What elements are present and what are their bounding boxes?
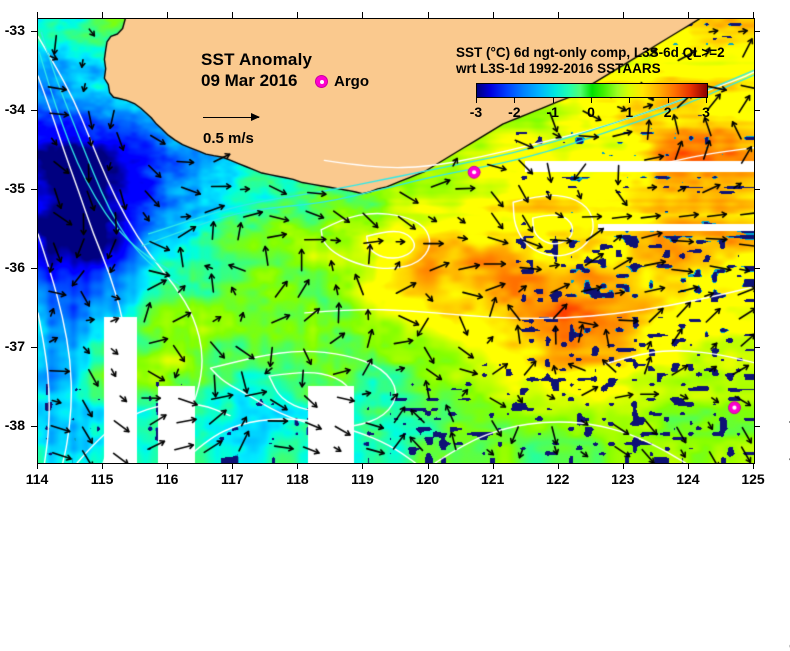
x-axis-tick-top xyxy=(167,12,168,18)
x-axis-tick-top xyxy=(232,12,233,18)
x-axis-label: 119 xyxy=(340,471,384,487)
x-axis-label: 122 xyxy=(536,471,580,487)
x-axis-tick-top xyxy=(428,12,429,18)
colorbar-tick-label: -3 xyxy=(470,104,482,120)
x-axis-tick xyxy=(167,463,168,469)
x-axis-tick xyxy=(688,463,689,469)
y-axis-tick-right xyxy=(754,347,760,348)
colorbar-tick xyxy=(553,98,554,103)
colorbar-block: SST (°C) 6d ngt-only comp, L3S-6d QL>=2 … xyxy=(456,45,746,121)
x-axis-label: 120 xyxy=(406,471,450,487)
arrow-right-icon xyxy=(203,117,259,118)
x-axis-label: 117 xyxy=(210,471,254,487)
y-axis-label: -36 xyxy=(0,259,25,275)
x-axis-tick-top xyxy=(297,12,298,18)
velocity-scale-key: 0.5 m/s xyxy=(203,111,259,147)
colorbar-tick-label: 3 xyxy=(702,104,710,120)
y-axis-tick xyxy=(31,426,37,427)
x-axis-tick-top xyxy=(37,12,38,18)
colorbar-tick xyxy=(706,98,707,103)
colorbar-tick-labels: -3-2-10123 xyxy=(476,104,706,121)
colorbar-tick xyxy=(629,98,630,103)
colorbar-tick xyxy=(668,98,669,103)
x-axis-tick xyxy=(753,463,754,469)
y-axis-label: -38 xyxy=(0,417,25,433)
y-axis-label: -35 xyxy=(0,180,25,196)
argo-float-dot-icon xyxy=(316,76,327,87)
colorbar-tick xyxy=(591,98,592,103)
x-axis-tick-top xyxy=(493,12,494,18)
x-axis-tick xyxy=(362,463,363,469)
x-axis-label: 125 xyxy=(731,471,775,487)
velocity-scale-label: 0.5 m/s xyxy=(203,130,259,147)
colorbar-tick xyxy=(476,98,477,103)
x-axis-tick-top xyxy=(688,12,689,18)
y-axis-tick xyxy=(31,189,37,190)
x-axis-tick xyxy=(102,463,103,469)
colorbar-tick-label: 1 xyxy=(625,104,633,120)
y-axis-tick-right xyxy=(754,189,760,190)
y-axis-tick xyxy=(31,110,37,111)
map-plot-area[interactable]: SST Anomaly 09 Mar 2016 Argo 0.5 m/s SST… xyxy=(37,18,755,464)
x-axis-tick-top xyxy=(623,12,624,18)
x-axis-tick xyxy=(428,463,429,469)
x-axis-tick-top xyxy=(558,12,559,18)
y-axis-tick xyxy=(31,268,37,269)
y-axis-label: -34 xyxy=(0,101,25,117)
x-axis-label: 114 xyxy=(15,471,59,487)
x-axis-label: 118 xyxy=(275,471,319,487)
x-axis-label: 123 xyxy=(601,471,645,487)
x-axis-tick xyxy=(493,463,494,469)
argo-legend-label: Argo xyxy=(334,73,369,90)
y-axis-label: -33 xyxy=(0,22,25,38)
colorbar-tick-label: 2 xyxy=(664,104,672,120)
x-axis-tick xyxy=(558,463,559,469)
colorbar-wrap: -3-2-10123 xyxy=(476,83,746,121)
x-axis-tick xyxy=(37,463,38,469)
y-axis-tick-right xyxy=(754,426,760,427)
sst-anomaly-figure: SST Anomaly 09 Mar 2016 Argo 0.5 m/s SST… xyxy=(0,0,790,492)
x-axis-label: 121 xyxy=(471,471,515,487)
colorbar-title-line2: wrt L3S-1d 1992-2016 SSTAARS xyxy=(456,61,746,77)
colorbar-tick xyxy=(514,98,515,103)
x-axis-tick-top xyxy=(753,12,754,18)
x-axis-tick-top xyxy=(102,12,103,18)
x-axis-tick xyxy=(232,463,233,469)
y-axis-tick xyxy=(31,31,37,32)
y-axis-tick-right xyxy=(754,31,760,32)
colorbar-gradient xyxy=(476,83,708,98)
colorbar-tick-label: -2 xyxy=(508,104,520,120)
x-axis-label: 124 xyxy=(666,471,710,487)
x-axis-label: 116 xyxy=(145,471,189,487)
x-axis-tick xyxy=(623,463,624,469)
colorbar-title-line1: SST (°C) 6d ngt-only comp, L3S-6d QL>=2 xyxy=(456,45,746,61)
argo-legend-entry: Argo xyxy=(316,73,369,90)
colorbar-tick-label: 0 xyxy=(587,104,595,120)
x-axis-tick-top xyxy=(362,12,363,18)
y-axis-label: -37 xyxy=(0,338,25,354)
x-axis-label: 115 xyxy=(80,471,124,487)
x-axis-tick xyxy=(297,463,298,469)
y-axis-tick-right xyxy=(754,110,760,111)
colorbar-tick-label: -1 xyxy=(546,104,558,120)
y-axis-tick-right xyxy=(754,268,760,269)
y-axis-tick xyxy=(31,347,37,348)
